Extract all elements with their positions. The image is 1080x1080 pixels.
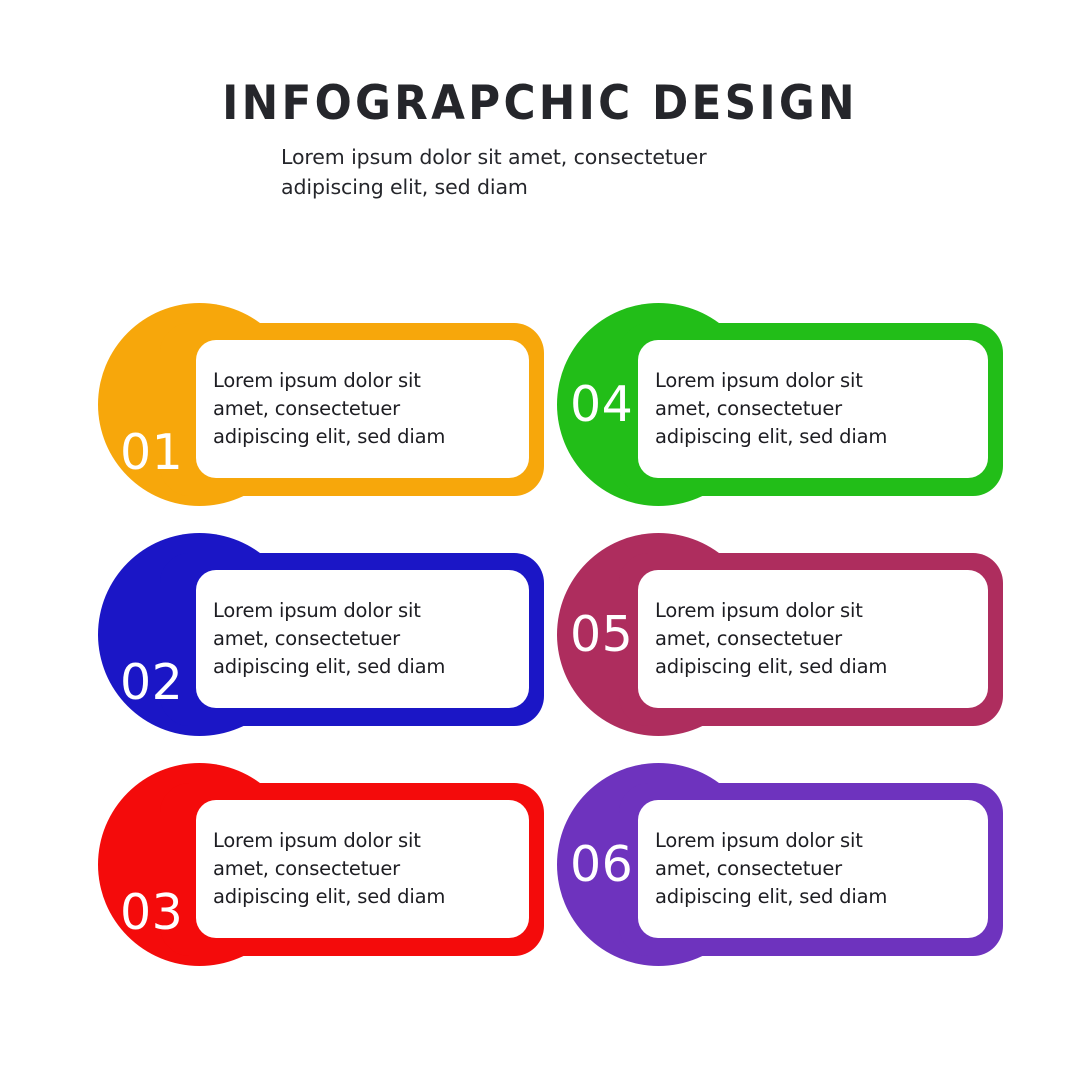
infographic-card-02[interactable]: Lorem ipsum dolor sit amet, consectetuer… bbox=[98, 533, 544, 738]
card-panel-01: Lorem ipsum dolor sit amet, consectetuer… bbox=[196, 340, 529, 478]
card-text-05: Lorem ipsum dolor sit amet, consectetuer… bbox=[655, 597, 973, 681]
card-number-04: 04 bbox=[570, 380, 633, 429]
card-number-06: 06 bbox=[570, 840, 633, 889]
infographic-card-04[interactable]: Lorem ipsum dolor sit amet, consectetuer… bbox=[557, 303, 1003, 508]
card-panel-05: Lorem ipsum dolor sit amet, consectetuer… bbox=[638, 570, 988, 708]
card-panel-02: Lorem ipsum dolor sit amet, consectetuer… bbox=[196, 570, 529, 708]
card-grid: Lorem ipsum dolor sit amet, consectetuer… bbox=[0, 0, 1080, 1080]
card-panel-03: Lorem ipsum dolor sit amet, consectetuer… bbox=[196, 800, 529, 938]
card-panel-06: Lorem ipsum dolor sit amet, consectetuer… bbox=[638, 800, 988, 938]
infographic-canvas: INFOGRAPCHIC DESIGN Lorem ipsum dolor si… bbox=[0, 0, 1080, 1080]
infographic-card-05[interactable]: Lorem ipsum dolor sit amet, consectetuer… bbox=[557, 533, 1003, 738]
card-number-03: 03 bbox=[120, 888, 183, 937]
infographic-card-06[interactable]: Lorem ipsum dolor sit amet, consectetuer… bbox=[557, 763, 1003, 968]
card-number-05: 05 bbox=[570, 610, 633, 659]
infographic-card-03[interactable]: Lorem ipsum dolor sit amet, consectetuer… bbox=[98, 763, 544, 968]
card-panel-04: Lorem ipsum dolor sit amet, consectetuer… bbox=[638, 340, 988, 478]
card-text-01: Lorem ipsum dolor sit amet, consectetuer… bbox=[213, 367, 515, 451]
infographic-card-01[interactable]: Lorem ipsum dolor sit amet, consectetuer… bbox=[98, 303, 544, 508]
card-text-06: Lorem ipsum dolor sit amet, consectetuer… bbox=[655, 827, 973, 911]
card-number-01: 01 bbox=[120, 428, 183, 477]
card-number-02: 02 bbox=[120, 658, 183, 707]
card-text-04: Lorem ipsum dolor sit amet, consectetuer… bbox=[655, 367, 973, 451]
card-text-03: Lorem ipsum dolor sit amet, consectetuer… bbox=[213, 827, 515, 911]
card-text-02: Lorem ipsum dolor sit amet, consectetuer… bbox=[213, 597, 515, 681]
